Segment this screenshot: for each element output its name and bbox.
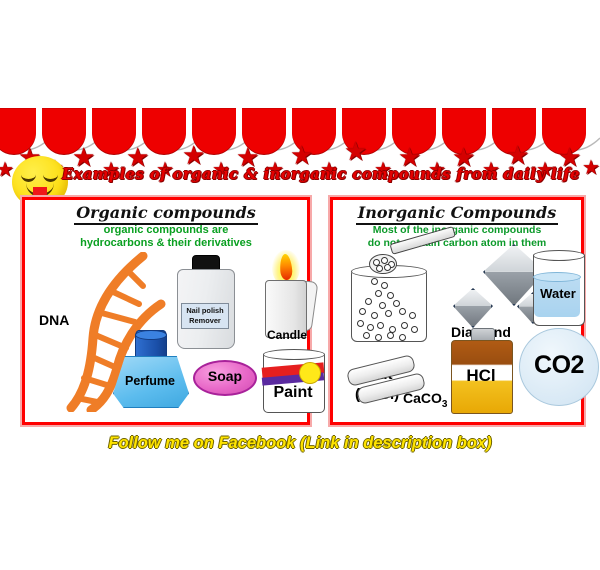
npr-label-line2: Remover — [182, 316, 228, 326]
label-co2: CO2 — [520, 351, 598, 380]
label-caco3: CaCO3 — [403, 390, 447, 410]
panel-organic-subtitle-line1: organic compounds are — [25, 224, 307, 237]
star-icon: ★ — [582, 158, 600, 178]
panel-inorganic-heading: Inorganic Compounds — [333, 203, 581, 225]
page-title: Examples of organic & inorganic compound… — [62, 166, 540, 183]
footer-call-to-action: Follow me on Facebook (Link in descripti… — [0, 434, 600, 453]
panel-organic-heading: Organic compounds — [25, 203, 307, 225]
panel-inorganic-subtitle-line1: Most of the inorganic compounds — [333, 224, 581, 237]
panel-organic-heading-text: Organic compounds — [74, 203, 258, 225]
panel-inorganic-heading-text: Inorganic Compounds — [356, 203, 558, 225]
diamond-icon-medium — [453, 288, 493, 328]
label-caco3-subscript: 3 — [442, 399, 448, 410]
npr-label-line1: Nail polish — [182, 306, 228, 316]
star-icon: ★ — [290, 142, 313, 168]
perfume-icon: Perfume — [113, 330, 187, 406]
star-icon: ★ — [344, 138, 367, 164]
nail-polish-remover-label: Nail polish Remover — [181, 303, 229, 329]
label-perfume: Perfume — [113, 374, 187, 388]
smiley-eye-left — [21, 171, 36, 182]
salt-shaker-icon — [347, 252, 467, 362]
panel-inorganic-compounds: Inorganic Compounds Most of the inorgani… — [330, 197, 584, 425]
label-candle: Candle — [267, 328, 307, 342]
star-icon: ★ — [182, 142, 205, 168]
soap-icon: Soap — [193, 360, 257, 396]
carbon-dioxide-icon: CO2 — [519, 328, 599, 406]
smiley-eye-right — [43, 171, 58, 182]
panel-organic-subtitle-line2: hydrocarbons & their derivatives — [25, 237, 307, 250]
label-caco3-base: CaCO — [403, 390, 442, 406]
panel-organic-compounds: Organic compounds organic compounds are … — [22, 197, 310, 425]
label-soap: Soap — [195, 368, 255, 384]
label-paint: Paint — [263, 384, 323, 402]
sun-icon — [299, 362, 321, 384]
label-water: Water — [533, 286, 583, 301]
star-icon: ★ — [506, 142, 529, 168]
paint-bucket-icon: Paint — [263, 348, 323, 412]
panel-organic-subtitle: organic compounds are hydrocarbons & the… — [25, 224, 307, 250]
label-dna: DNA — [39, 312, 69, 328]
water-glass-icon: Water — [533, 250, 583, 326]
